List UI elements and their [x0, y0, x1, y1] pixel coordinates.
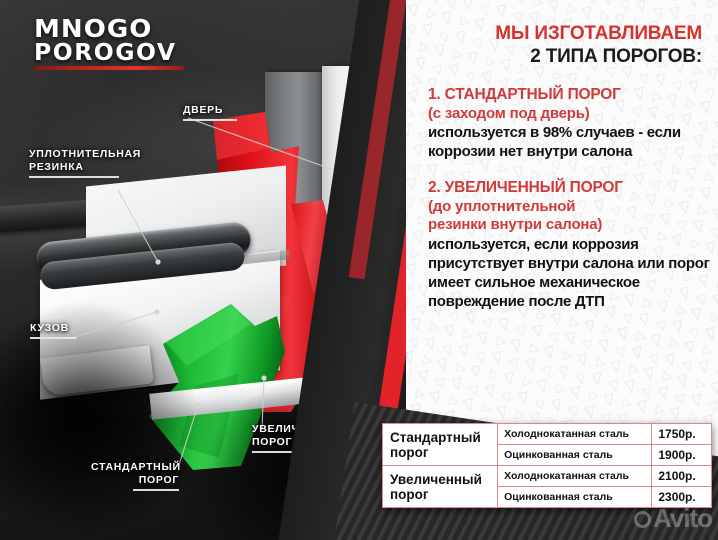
- label-standard-rule: [133, 489, 179, 491]
- section-standard-body: используется в 98% случаев - если корроз…: [428, 123, 710, 161]
- label-body-rule: [30, 337, 76, 339]
- price-material: Холоднокатанная сталь: [498, 424, 652, 445]
- price-table: Стандартный порог Холоднокатанная сталь …: [382, 423, 712, 508]
- logo-underline-bar: [33, 66, 185, 70]
- table-row: Стандартный порог Холоднокатанная сталь …: [383, 424, 712, 445]
- section-standard-title: 1. СТАНДАРТНЫЙ ПОРОГ: [428, 86, 710, 105]
- section-enlarged-subtitle-1: (до уплотнительной: [428, 198, 710, 217]
- price-material: Оцинкованная сталь: [498, 487, 652, 508]
- section-enlarged-body: используется, если коррозия присутствует…: [428, 235, 710, 311]
- table-row: Увеличенный порог Холоднокатанная сталь …: [383, 466, 712, 487]
- price-value: 2300р.: [652, 487, 712, 508]
- logo-line-2: POROGOV: [34, 41, 197, 65]
- label-body: КУЗОВ: [30, 322, 69, 335]
- logo-line-1: MNOGO: [34, 16, 200, 41]
- price-material: Оцинкованная сталь: [498, 445, 652, 466]
- section-enlarged-title: 2. УВЕЛИЧЕННЫЙ ПОРОГ: [428, 179, 710, 198]
- label-seal: УПЛОТНИТЕЛЬНАЯ РЕЗИНКА: [29, 148, 141, 174]
- price-group-enlarged: Увеличенный порог: [383, 466, 498, 508]
- section-enlarged: 2. УВЕЛИЧЕННЫЙ ПОРОГ (до уплотнительной …: [428, 179, 710, 311]
- advertisement-image: ДВЕРЬ УПЛОТНИТЕЛЬНАЯ РЕЗИНКА КУЗОВ СТАНД…: [0, 0, 718, 540]
- section-enlarged-subtitle-2: резинки внутри салона): [428, 216, 710, 235]
- price-value: 1750р.: [652, 424, 712, 445]
- label-standard-sill: СТАНДАРТНЫЙ ПОРОГ: [91, 461, 179, 487]
- label-door: ДВЕРЬ: [183, 104, 223, 117]
- label-door-rule: [183, 119, 237, 121]
- price-group-standard: Стандартный порог: [383, 424, 498, 466]
- heading-line-1: МЫ ИЗГОТАВЛИВАЕМ: [428, 22, 710, 45]
- price-value: 1900р.: [652, 445, 712, 466]
- heading-line-2: 2 ТИПА ПОРОГОВ:: [428, 45, 710, 68]
- price-value: 2100р.: [652, 466, 712, 487]
- label-seal-rule: [29, 176, 119, 178]
- section-standard: 1. СТАНДАРТНЫЙ ПОРОГ (с заходом под двер…: [428, 86, 710, 161]
- section-standard-subtitle: (с заходом под дверь): [428, 105, 710, 124]
- info-panel-content: МЫ ИЗГОТАВЛИВАЕМ 2 ТИПА ПОРОГОВ: 1. СТАН…: [406, 0, 718, 311]
- brand-logo: MNOGO POROGOV: [34, 16, 194, 70]
- price-material: Холоднокатанная сталь: [498, 466, 652, 487]
